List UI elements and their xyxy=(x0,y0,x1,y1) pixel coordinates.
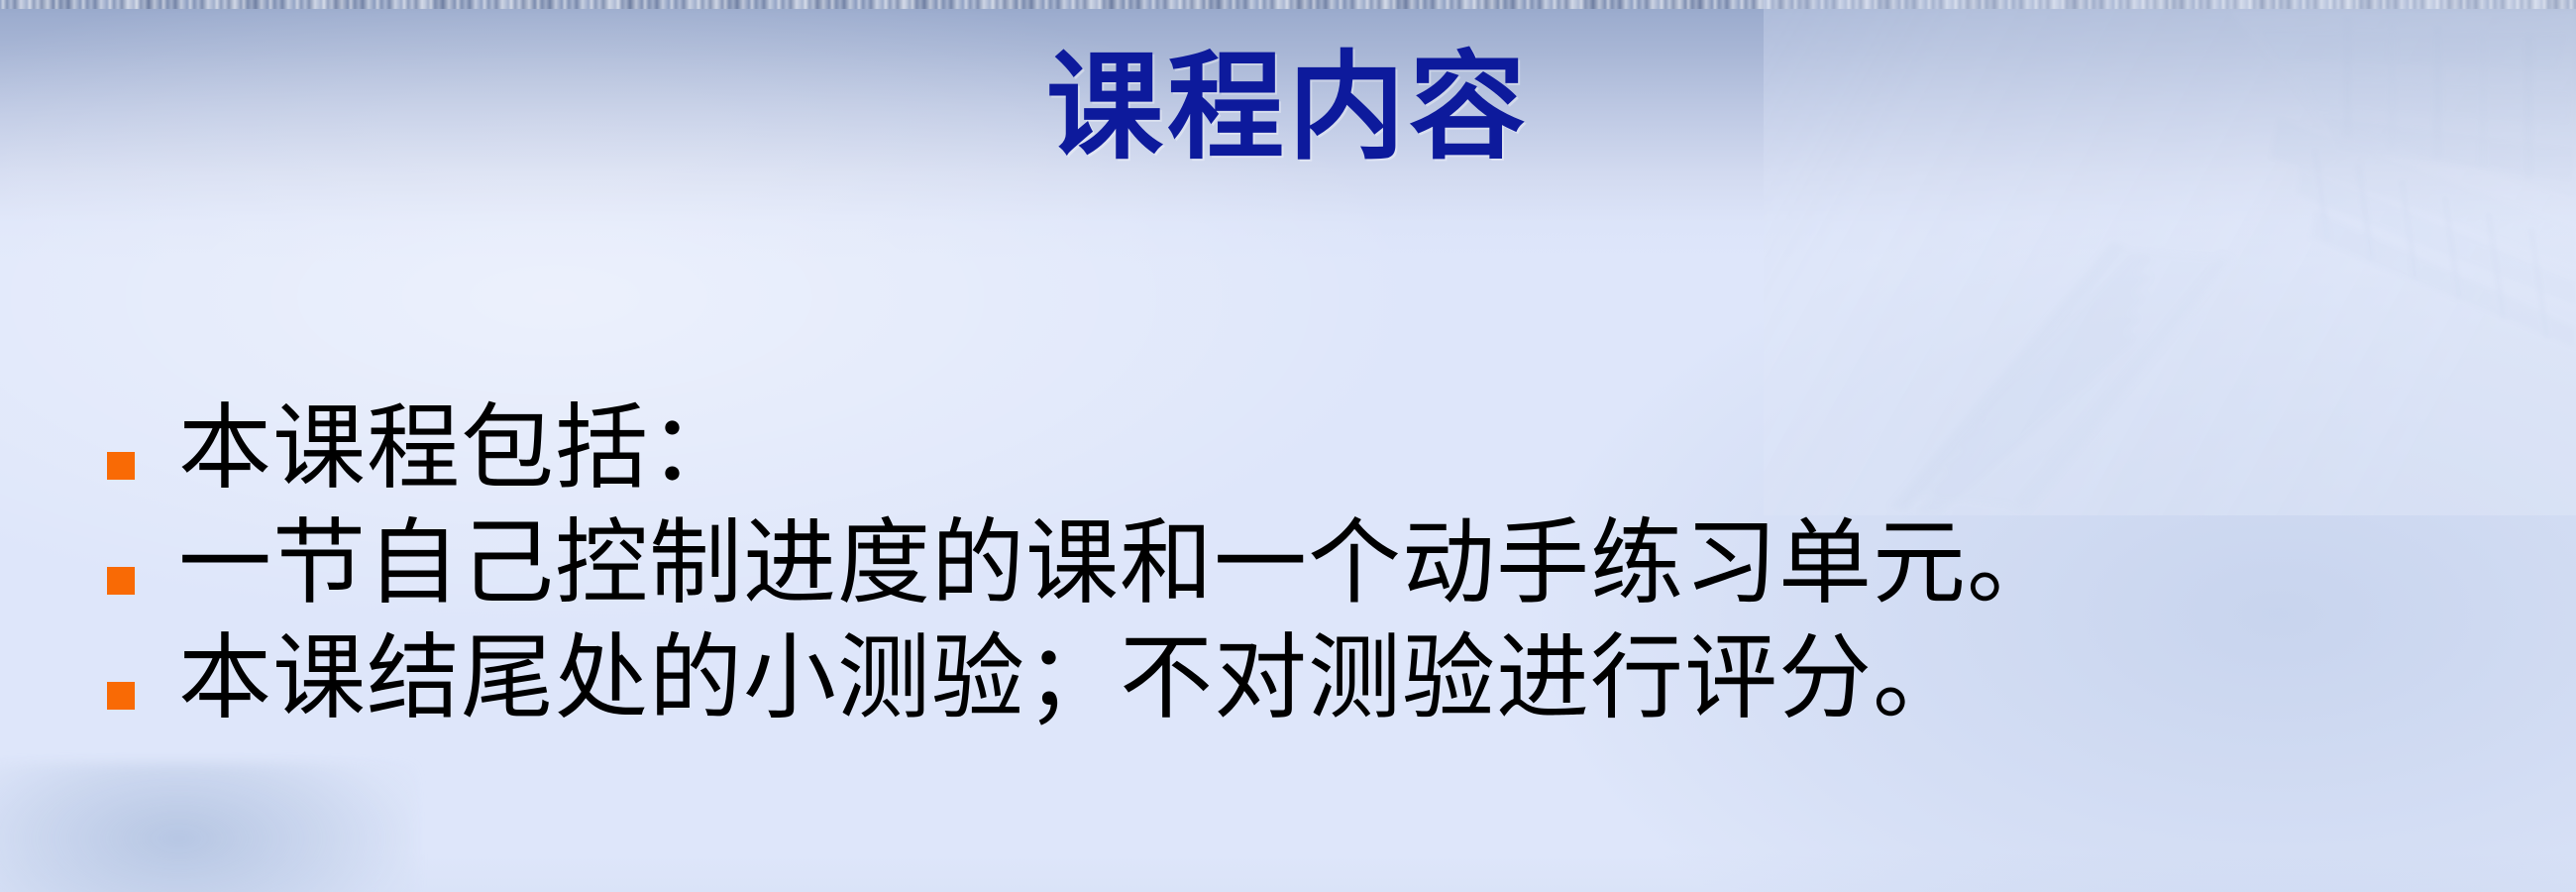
list-item: 本课程包括： xyxy=(107,394,2564,503)
square-bullet-icon xyxy=(107,682,135,710)
list-item: 本课结尾处的小测验；不对测验进行评分。 xyxy=(107,624,2564,733)
bullet-text: 本课结尾处的小测验；不对测验进行评分。 xyxy=(178,624,2564,733)
list-item: 一节自己控制进度的课和一个动手练习单元。 xyxy=(107,509,2564,618)
presentation-slide: 课程内容 本课程包括： 一节自己控制进度的课和一个动手练习单元。 本课结尾处的小… xyxy=(0,0,2576,892)
bullet-list: 本课程包括： 一节自己控制进度的课和一个动手练习单元。 本课结尾处的小测验；不对… xyxy=(107,394,2564,739)
slide-title: 课程内容 xyxy=(0,46,2576,168)
slide-content: 课程内容 本课程包括： 一节自己控制进度的课和一个动手练习单元。 本课结尾处的小… xyxy=(0,0,2576,892)
bullet-text: 本课程包括： xyxy=(178,394,2564,503)
square-bullet-icon xyxy=(107,452,135,480)
bullet-text: 一节自己控制进度的课和一个动手练习单元。 xyxy=(178,509,2564,618)
square-bullet-icon xyxy=(107,567,135,595)
